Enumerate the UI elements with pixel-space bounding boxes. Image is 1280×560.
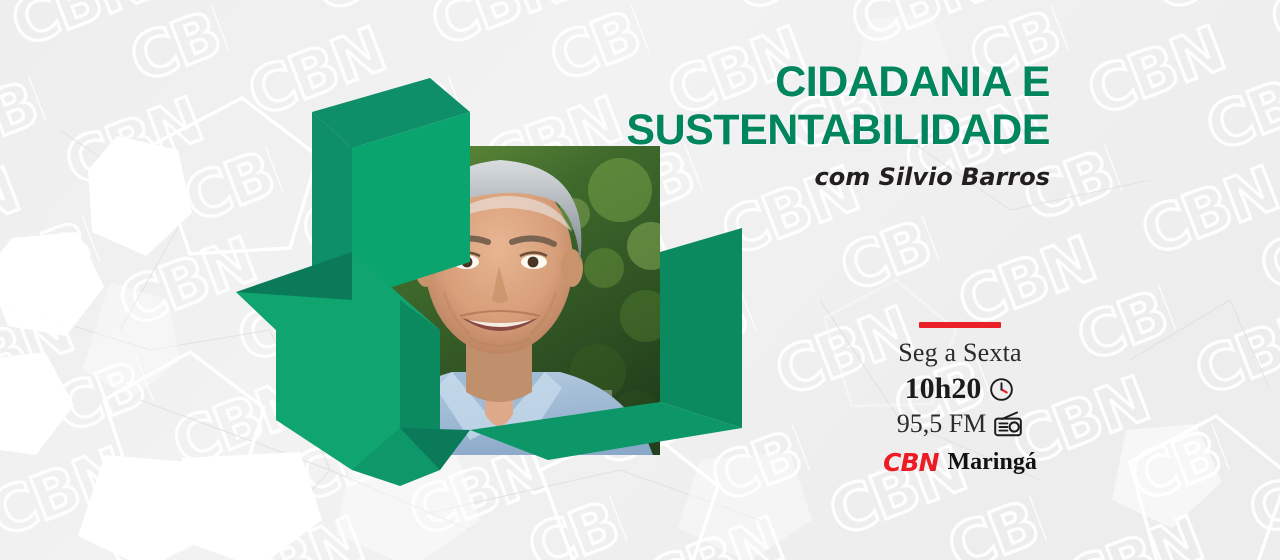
station-city: Maringá (948, 450, 1037, 475)
program-host-subtitle: com Silvio Barros (470, 163, 1050, 191)
red-divider (919, 322, 1001, 328)
schedule-block: Seg a Sexta 10h20 95,5 FM CBN (860, 322, 1060, 475)
title-line-1: CIDADANIA E (470, 58, 1050, 106)
station-logo: CBN Maringá (860, 450, 1060, 475)
title-line-2: SUSTENTABILIDADE (470, 106, 1050, 154)
cbn-wordmark: CBN (883, 450, 938, 475)
schedule-time-row: 10h20 (860, 372, 1060, 406)
schedule-frequency: 95,5 FM (897, 409, 987, 439)
clock-icon (988, 376, 1015, 403)
program-banner: CBN CBN (0, 0, 1280, 560)
program-title-block: CIDADANIA E SUSTENTABILIDADE com Silvio … (470, 58, 1050, 191)
schedule-days: Seg a Sexta (860, 338, 1060, 368)
schedule-frequency-row: 95,5 FM (860, 409, 1060, 439)
schedule-time: 10h20 (905, 372, 982, 406)
radio-icon (993, 410, 1023, 438)
